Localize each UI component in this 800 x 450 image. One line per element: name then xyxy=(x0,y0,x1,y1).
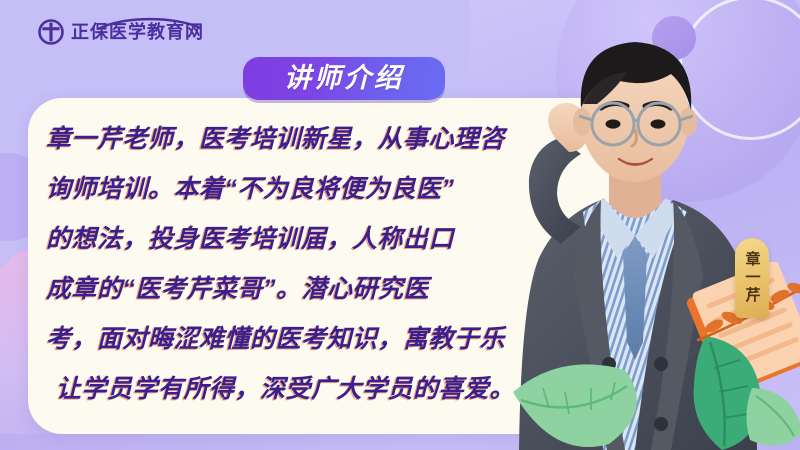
instructor-name-text: 章一芹 xyxy=(745,251,760,305)
green-leaf-decor-icon-left xyxy=(505,348,665,450)
instructor-bio-text: 章一芹老师，医考培训新星，从事心理咨 询师培训。本着“不为良将便为良医” 的想法… xyxy=(46,114,546,414)
instructor-name-plaque: 章一芹 xyxy=(735,238,769,318)
bio-line: 让学员学有所得，深受广大学员的喜爱。 xyxy=(46,364,546,414)
bio-line: 章一芹老师，医考培训新星，从事心理咨 xyxy=(46,114,546,164)
logo-arc-icon xyxy=(96,17,202,30)
section-title-banner: 讲师介绍 xyxy=(243,57,445,100)
medical-cross-circle-icon xyxy=(38,19,64,45)
bio-line: 的想法，投身医考培训届，人称出口 xyxy=(46,214,546,264)
bio-line: 考，面对晦涩难懂的医考知识，寓教于乐 xyxy=(46,314,546,364)
green-leaf-decor-icon-right xyxy=(686,330,800,450)
bio-line: 询师培训。本着“不为良将便为良医” xyxy=(46,164,546,214)
section-title-text: 讲师介绍 xyxy=(284,65,404,92)
instructor-intro-poster: 正保医学教育网 讲师介绍 章一芹老师，医考培训新星，从事心理咨 询师培训。本着“… xyxy=(0,0,800,450)
bio-line: 成章的“医考芹菜哥”。潜心研究医 xyxy=(46,264,546,314)
